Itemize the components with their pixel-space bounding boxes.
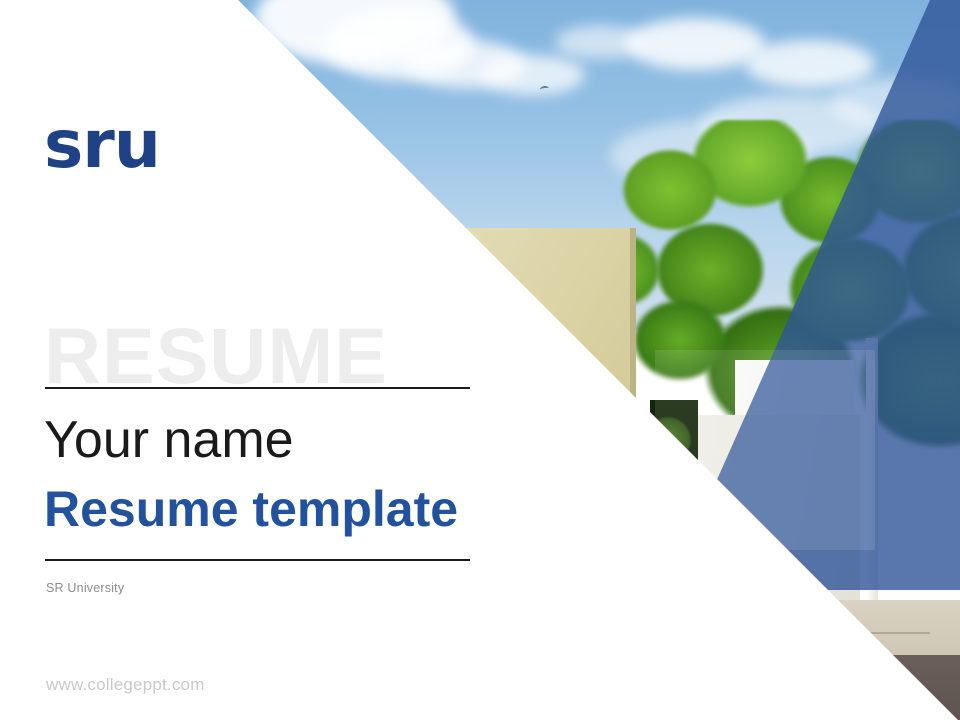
divider-top: [45, 387, 470, 389]
organization-label: SR University: [46, 581, 124, 595]
slide-content: sru RESUME Your name Resume template SR …: [0, 0, 960, 720]
divider-bottom: [45, 559, 470, 561]
slide-subtitle: Resume template: [44, 481, 458, 537]
resume-watermark: RESUME: [44, 316, 388, 395]
resume-title-slide: sru RESUME Your name Resume template SR …: [0, 0, 960, 720]
candidate-name: Your name: [44, 411, 294, 469]
footer-website[interactable]: www.collegeppt.com: [46, 675, 205, 695]
sru-logo: sru: [44, 112, 160, 178]
